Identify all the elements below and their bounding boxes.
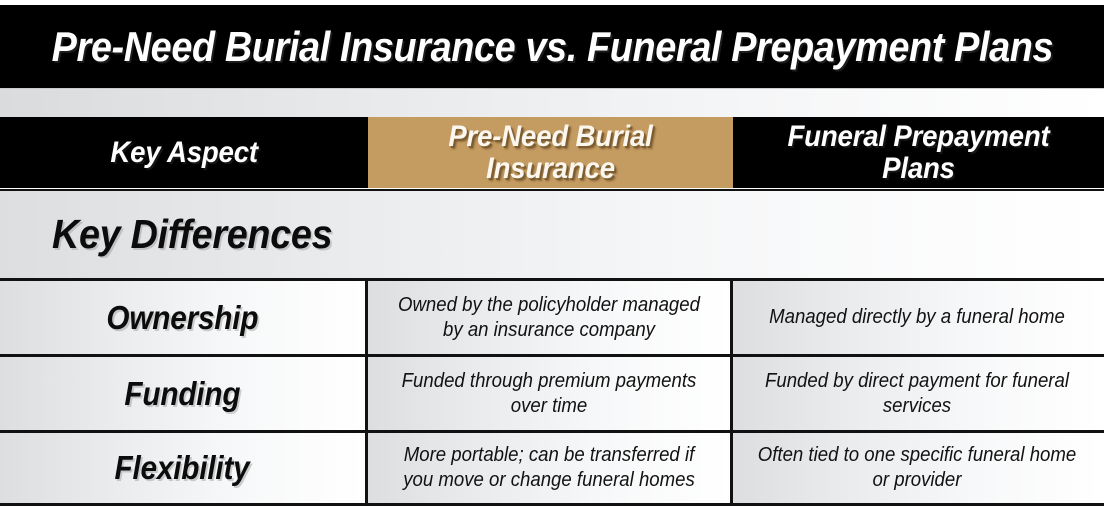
column-header-funeral-prepayment-plans: Funeral Prepayment Plans xyxy=(733,117,1104,188)
cell-value: More portable; can be transferred if you… xyxy=(390,443,708,493)
cell-pre-need: Funded through premium payments over tim… xyxy=(368,357,733,430)
column-header-pre-need-burial-insurance: Pre-Need Burial Insurance xyxy=(368,117,733,188)
cell-aspect: Funding xyxy=(0,357,368,430)
table-body: Ownership Owned by the policyholder mana… xyxy=(0,278,1104,506)
cell-value: Funded through premium payments over tim… xyxy=(390,369,708,419)
aspect-label: Funding xyxy=(125,375,241,413)
cell-prepayment: Funded by direct payment for funeral ser… xyxy=(733,357,1101,430)
table-row: Ownership Owned by the policyholder mana… xyxy=(0,278,1104,354)
cell-value: Often tied to one specific funeral home … xyxy=(755,443,1079,493)
cell-prepayment: Often tied to one specific funeral home … xyxy=(733,433,1101,503)
table-row: Funding Funded through premium payments … xyxy=(0,354,1104,430)
aspect-label: Flexibility xyxy=(115,449,250,487)
section-band-key-differences: Key Differences xyxy=(0,189,1104,278)
title-divider-strip xyxy=(0,88,1104,117)
aspect-label: Ownership xyxy=(107,299,259,337)
page-title: Pre-Need Burial Insurance vs. Funeral Pr… xyxy=(51,23,1053,71)
cell-aspect: Flexibility xyxy=(0,433,368,503)
cell-value: Owned by the policyholder managed by an … xyxy=(390,293,708,343)
table-header-row: Key Aspect Pre-Need Burial Insurance Fun… xyxy=(0,117,1104,188)
table-row: Flexibility More portable; can be transf… xyxy=(0,430,1104,506)
cell-pre-need: More portable; can be transferred if you… xyxy=(368,433,733,503)
column-header-label: Key Aspect xyxy=(110,137,257,168)
cell-value: Funded by direct payment for funeral ser… xyxy=(755,369,1079,419)
cell-value: Managed directly by a funeral home xyxy=(769,305,1065,330)
comparison-infographic: Pre-Need Burial Insurance vs. Funeral Pr… xyxy=(0,0,1104,506)
title-banner: Pre-Need Burial Insurance vs. Funeral Pr… xyxy=(0,5,1104,88)
column-header-label: Funeral Prepayment Plans xyxy=(755,121,1082,183)
cell-aspect: Ownership xyxy=(0,281,368,354)
column-header-label: Pre-Need Burial Insurance xyxy=(390,121,711,183)
cell-prepayment: Managed directly by a funeral home xyxy=(733,281,1101,354)
section-title: Key Differences xyxy=(52,211,332,258)
cell-pre-need: Owned by the policyholder managed by an … xyxy=(368,281,733,354)
column-header-key-aspect: Key Aspect xyxy=(0,117,368,188)
